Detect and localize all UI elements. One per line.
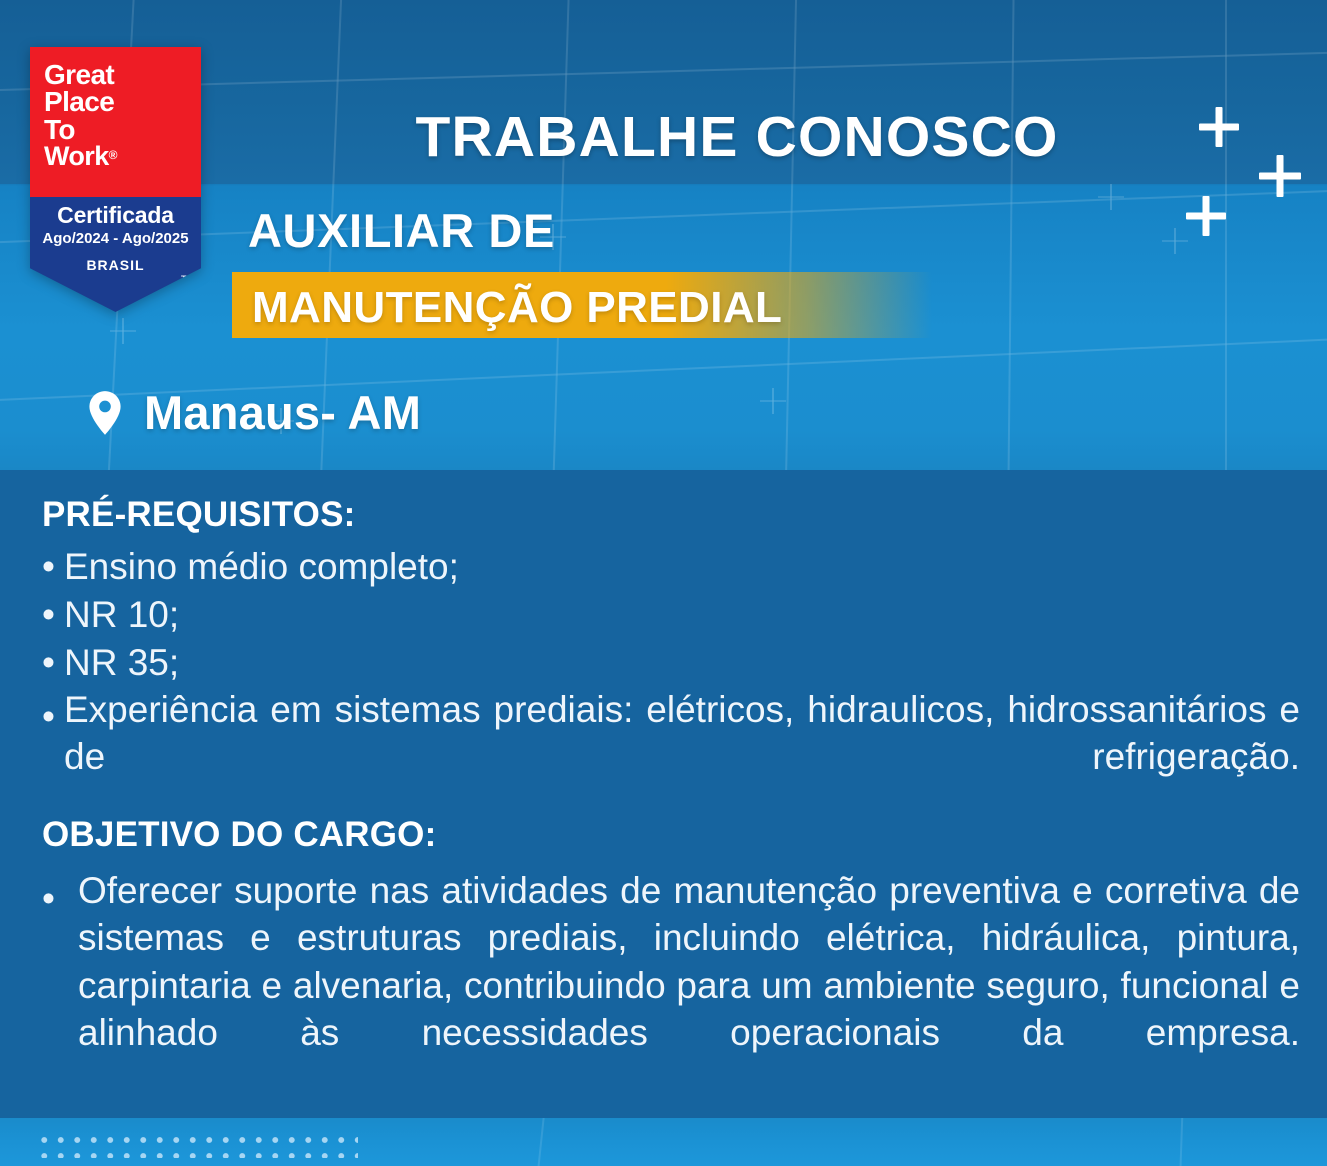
footer-dot-pattern [36,1132,358,1158]
location-text: Manaus- AM [144,385,421,440]
page-title: TRABALHE CONOSCO [232,104,1242,170]
badge-line-2: Place [44,88,187,115]
bullet-glyph: • [42,880,55,917]
list-item: •NR 10; [42,594,179,636]
badge-certified-label: Certificada [30,203,201,228]
badge-line-1: Great [44,61,187,88]
badge-navy-panel: Certificada Ago/2024 - Ago/2025 BRASIL T… [30,197,201,312]
trademark-mark: TM [181,274,194,284]
list-item-text: Experiência em sistemas prediais: elétri… [64,686,1300,828]
badge-country: BRASIL [30,257,201,273]
footer-strip [0,1118,1327,1166]
great-place-to-work-badge: Great Place To Work® Certificada Ago/202… [30,47,201,312]
badge-line-4-text: Work [44,141,109,171]
job-details-body: PRÉ-REQUISITOS: •Ensino médio completo; … [0,470,1327,1118]
job-title-role: MANUTENÇÃO PREDIAL [252,283,782,333]
badge-period: Ago/2024 - Ago/2025 [30,230,201,247]
list-item-text: NR 10; [64,594,179,635]
job-title-prefix: AUXILIAR DE [248,203,555,258]
list-item: •NR 35; [42,642,179,684]
map-pin-icon [88,390,122,436]
location: Manaus- AM [88,385,421,440]
badge-line-4: Work® [44,143,187,169]
job-posting-poster: Great Place To Work® Certificada Ago/202… [0,0,1327,1166]
registered-mark-icon: ® [109,148,117,162]
plus-decoration-icon [1186,196,1226,236]
badge-red-panel: Great Place To Work® [30,47,201,197]
bullet-glyph: • [42,642,64,684]
bullet-glyph: • [42,698,55,735]
list-item: Oferecer suporte nas atividades de manut… [78,867,1300,1104]
plus-decoration-icon [1259,155,1301,197]
header-banner: Great Place To Work® Certificada Ago/202… [0,0,1327,470]
bullet-glyph: • [42,594,64,636]
bullet-glyph: • [42,546,64,588]
section-heading-prerequisites: PRÉ-REQUISITOS: [42,495,356,535]
list-item: •Ensino médio completo; [42,546,459,588]
list-item-text: Oferecer suporte nas atividades de manut… [78,867,1300,1104]
badge-line-3: To [44,116,187,143]
list-item: Experiência em sistemas prediais: elétri… [64,686,1300,828]
section-heading-objective: OBJETIVO DO CARGO: [42,815,436,855]
list-item-text: NR 35; [64,642,179,683]
list-item-text: Ensino médio completo; [64,546,459,587]
